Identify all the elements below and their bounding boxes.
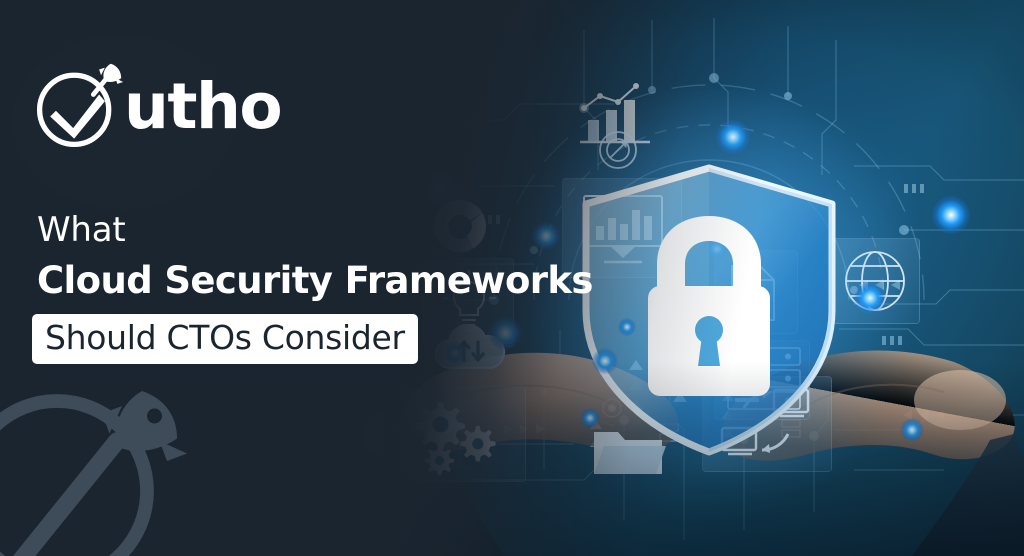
circle-rocket-watermark-icon <box>0 356 192 556</box>
headline-line-2: Cloud Security Frameworks <box>37 259 593 303</box>
headline-line-1: What <box>37 210 593 250</box>
headline-line-3: Should CTOs Consider <box>45 321 405 356</box>
logo[interactable]: utho <box>30 58 281 154</box>
logo-wordmark: utho <box>124 75 281 138</box>
circle-check-rocket-icon <box>30 58 126 154</box>
blog-banner: 0 1 1 #include <stdio.h> #include <stdli… <box>0 0 1024 556</box>
headline-block: What Cloud Security Frameworks Should CT… <box>37 210 593 364</box>
headline-highlight-box: Should CTOs Consider <box>32 314 418 365</box>
shield-icon <box>564 160 854 460</box>
